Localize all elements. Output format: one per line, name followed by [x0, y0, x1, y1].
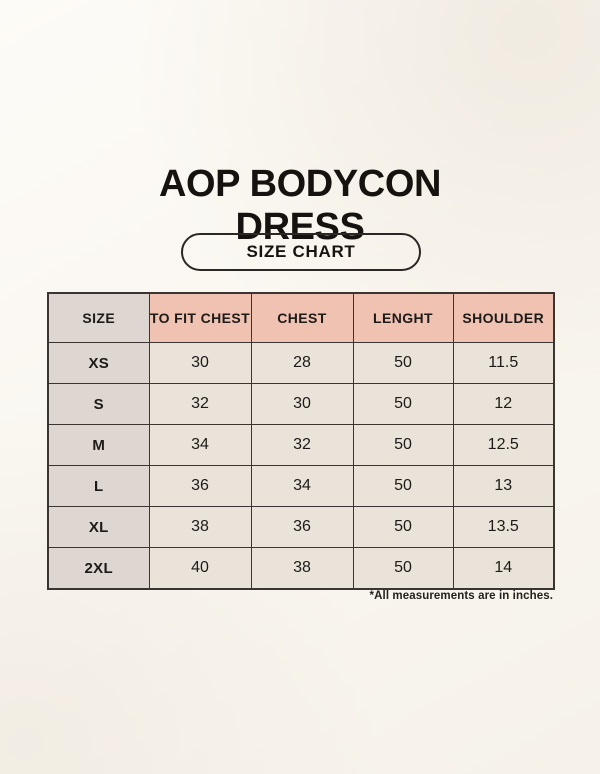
- cell-to_fit_chest: 34: [149, 425, 251, 466]
- size-chart-badge: SIZE CHART: [181, 233, 421, 271]
- table-row: S32305012: [48, 384, 554, 425]
- cell-shoulder: 14: [453, 548, 554, 590]
- cell-shoulder: 12: [453, 384, 554, 425]
- cell-to_fit_chest: 30: [149, 343, 251, 384]
- column-header-to_fit_chest: TO FIT CHEST: [149, 293, 251, 343]
- cell-lenght: 50: [353, 466, 453, 507]
- cell-shoulder: 13.5: [453, 507, 554, 548]
- cell-shoulder: 11.5: [453, 343, 554, 384]
- cell-chest: 30: [251, 384, 353, 425]
- cell-chest: 32: [251, 425, 353, 466]
- table-header-row: SIZETO FIT CHESTCHESTLENGHTSHOULDER: [48, 293, 554, 343]
- cell-lenght: 50: [353, 384, 453, 425]
- measurements-footnote: *All measurements are in inches.: [47, 590, 553, 602]
- cell-lenght: 50: [353, 343, 453, 384]
- cell-lenght: 50: [353, 425, 453, 466]
- cell-shoulder: 13: [453, 466, 554, 507]
- table-row: L36345013: [48, 466, 554, 507]
- size-chart-table: SIZETO FIT CHESTCHESTLENGHTSHOULDER XS30…: [47, 292, 555, 590]
- table-body: XS30285011.5S32305012M34325012.5L3634501…: [48, 343, 554, 590]
- cell-chest: 38: [251, 548, 353, 590]
- cell-chest: 34: [251, 466, 353, 507]
- column-header-shoulder: SHOULDER: [453, 293, 554, 343]
- size-chart-page: AOP BODYCON DRESS SIZE CHART SIZETO FIT …: [0, 0, 600, 774]
- cell-size: 2XL: [48, 548, 149, 590]
- cell-size: XS: [48, 343, 149, 384]
- column-header-size: SIZE: [48, 293, 149, 343]
- cell-chest: 36: [251, 507, 353, 548]
- cell-to_fit_chest: 40: [149, 548, 251, 590]
- cell-to_fit_chest: 38: [149, 507, 251, 548]
- cell-size: XL: [48, 507, 149, 548]
- cell-shoulder: 12.5: [453, 425, 554, 466]
- table-row: 2XL40385014: [48, 548, 554, 590]
- cell-to_fit_chest: 36: [149, 466, 251, 507]
- size-chart-badge-label: SIZE CHART: [247, 242, 356, 262]
- cell-lenght: 50: [353, 507, 453, 548]
- table-row: XL38365013.5: [48, 507, 554, 548]
- column-header-lenght: LENGHT: [353, 293, 453, 343]
- column-header-chest: CHEST: [251, 293, 353, 343]
- cell-size: L: [48, 466, 149, 507]
- table-header: SIZETO FIT CHESTCHESTLENGHTSHOULDER: [48, 293, 554, 343]
- table-row: M34325012.5: [48, 425, 554, 466]
- cell-to_fit_chest: 32: [149, 384, 251, 425]
- cell-chest: 28: [251, 343, 353, 384]
- table-row: XS30285011.5: [48, 343, 554, 384]
- cell-lenght: 50: [353, 548, 453, 590]
- cell-size: M: [48, 425, 149, 466]
- cell-size: S: [48, 384, 149, 425]
